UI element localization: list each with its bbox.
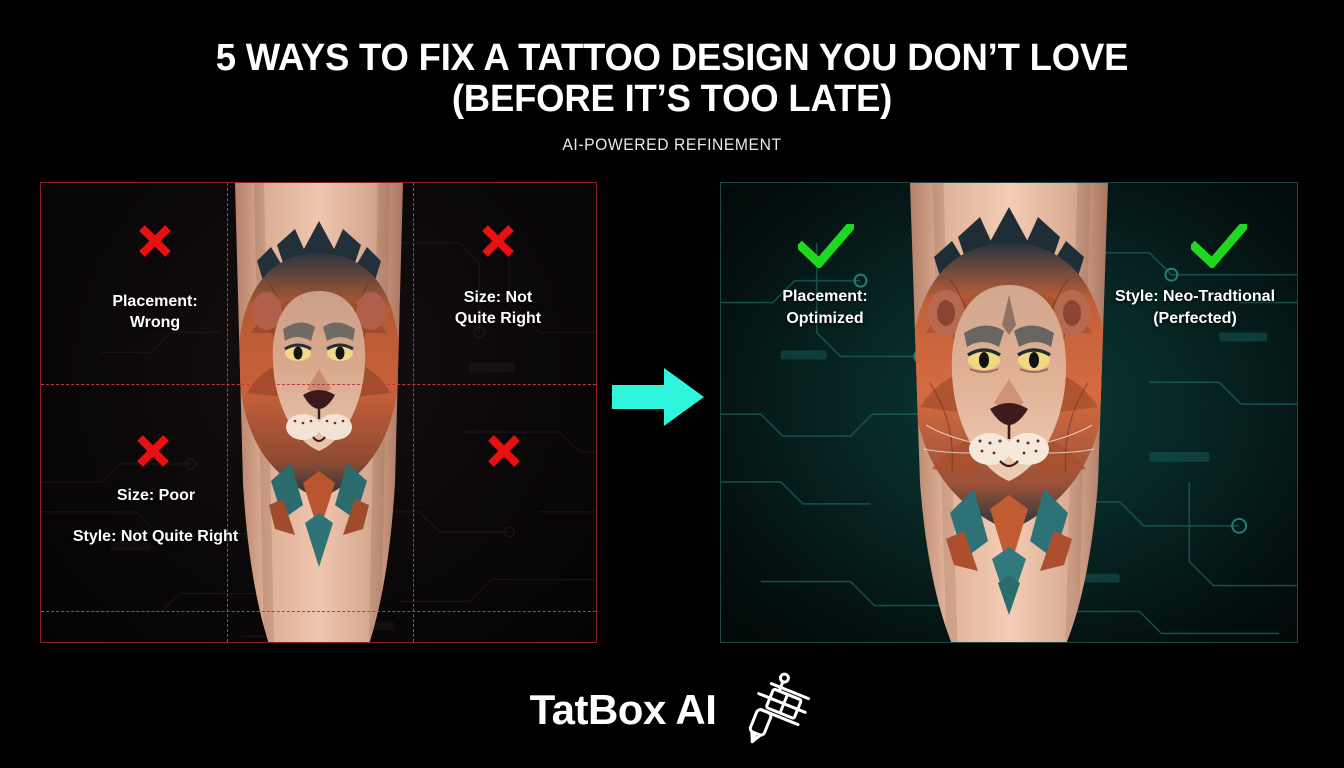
check-mark-icon — [1191, 224, 1247, 268]
label-style-after-line2: (Perfected) — [1099, 308, 1291, 330]
x-mark-size-top — [478, 221, 518, 261]
title-line-2: (BEFORE IT’S TOO LATE) — [27, 79, 1317, 120]
label-style-after: Style: Neo-Tradtional (Perfected) — [1099, 286, 1291, 330]
page-subtitle: AI-POWERED REFINEMENT — [34, 120, 1311, 155]
label-size-before-bottom: Size: Poor — [81, 485, 231, 506]
after-tattoo-image — [870, 183, 1148, 643]
x-mark-icon — [478, 221, 518, 261]
before-panel: Placement: Wrong Size: Not Quite Right S… — [40, 182, 597, 643]
before-tattoo-image — [199, 183, 439, 643]
label-placement-after: Placement: Optimized — [749, 286, 901, 330]
footer-logo: TatBox AI — [0, 665, 1344, 755]
x-mark-extra — [484, 431, 524, 471]
label-placement-before-line1: Placement: — [79, 291, 231, 312]
check-mark-icon — [798, 224, 854, 268]
label-size-before-top: Size: Not Quite Right — [421, 287, 575, 329]
transition-arrow — [608, 366, 708, 428]
check-mark-style — [1191, 224, 1247, 268]
label-style-after-line1: Style: Neo-Tradtional — [1099, 286, 1291, 308]
label-placement-before: Placement: Wrong — [79, 291, 231, 333]
label-size-before-top-line2: Quite Right — [421, 308, 575, 329]
x-mark-icon — [135, 221, 175, 261]
page-title: 5 WAYS TO FIX A TATTOO DESIGN YOU DON’T … — [27, 0, 1317, 120]
after-panel: Placement: Optimized Style: Neo-Tradtion… — [720, 182, 1298, 643]
tattoo-machine-icon — [742, 670, 814, 750]
header: 5 WAYS TO FIX A TATTOO DESIGN YOU DON’T … — [0, 0, 1344, 170]
label-placement-after-line1: Placement: — [749, 286, 901, 308]
x-mark-icon — [133, 431, 173, 471]
label-placement-after-line2: Optimized — [749, 308, 901, 330]
x-mark-placement — [135, 221, 175, 261]
x-mark-size-bottom — [133, 431, 173, 471]
title-line-1: 5 WAYS TO FIX A TATTOO DESIGN YOU DON’T … — [216, 37, 1128, 79]
label-style-before-bottom: Style: Not Quite Right — [49, 526, 262, 547]
check-mark-placement — [798, 224, 854, 268]
label-size-before-top-line1: Size: Not — [421, 287, 575, 308]
brand-name: TatBox AI — [530, 686, 717, 734]
arrow-right-icon — [608, 366, 708, 428]
x-mark-icon — [484, 431, 524, 471]
label-placement-before-line2: Wrong — [79, 312, 231, 333]
